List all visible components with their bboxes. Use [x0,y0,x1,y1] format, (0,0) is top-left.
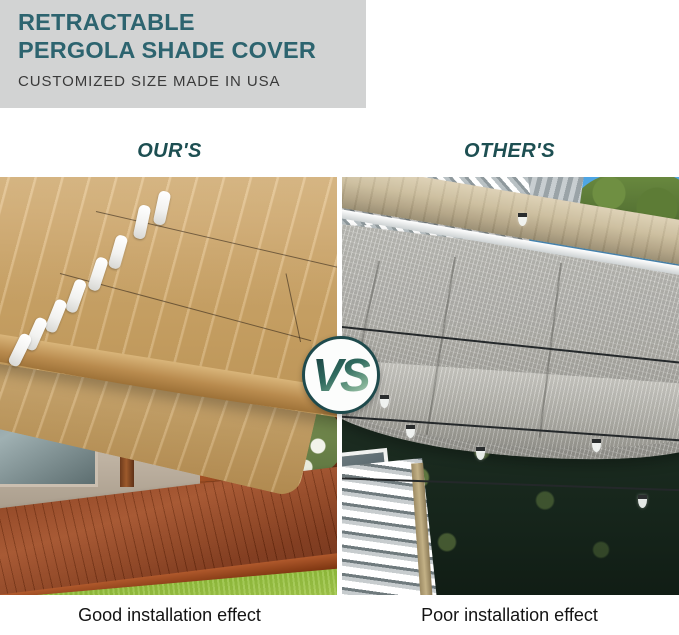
versus-badge: VS [302,336,380,414]
versus-label: VS [312,352,369,398]
photo-others-scene [342,177,679,595]
caption-ours: Good installation effect [0,605,339,626]
banner-subtitle: CUSTOMIZED SIZE MADE IN USA [18,73,366,90]
photo-ours [0,177,337,595]
promo-banner: RETRACTABLE PERGOLA SHADE COVER CUSTOMIZ… [0,0,366,108]
comparison-headings: OUR'S OTHER'S [0,140,679,174]
caption-others: Poor installation effect [340,605,679,626]
photo-others [342,177,679,595]
banner-title: RETRACTABLE PERGOLA SHADE COVER [18,9,366,64]
column-heading-others: OTHER'S [340,140,679,163]
column-heading-ours: OUR'S [0,140,339,163]
photo-ours-scene [0,177,337,595]
